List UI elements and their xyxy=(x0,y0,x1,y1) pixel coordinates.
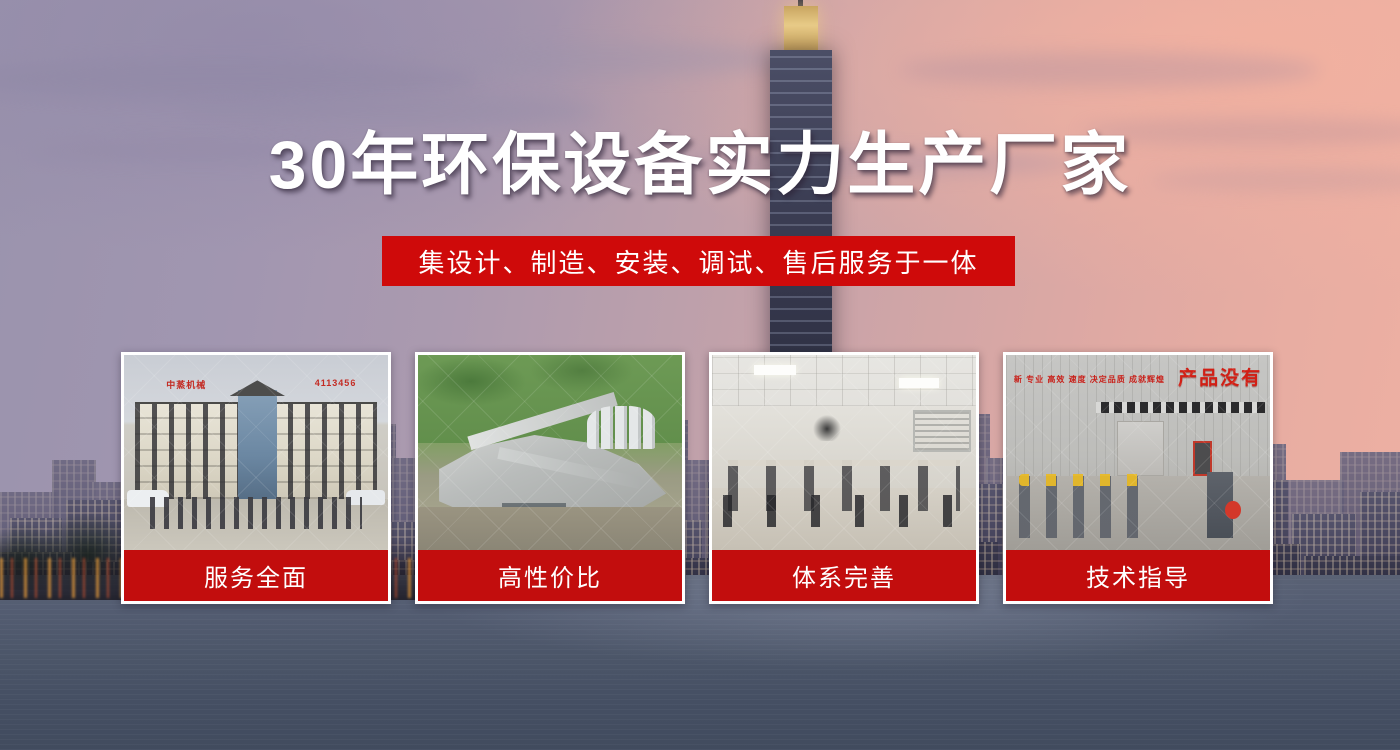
subtitle-text: 集设计、制造、安装、调试、售后服务于一体 xyxy=(418,243,978,280)
factory-sign-text: 产品没有 xyxy=(1178,363,1262,390)
workshop-training-photo: 产品没有 新 专业 高效 速度 决定品质 成就辉煌 xyxy=(1006,355,1270,550)
company-headquarters-photo: 中蒸机械 4113456 xyxy=(124,355,388,550)
promo-banner: 30年环保设备实力生产厂家 集设计、制造、安装、调试、售后服务于一体 中蒸机械 … xyxy=(0,0,1400,750)
card-caption-text: 高性价比 xyxy=(498,558,602,593)
card-caption-text: 体系完善 xyxy=(792,558,896,593)
building-phone-text: 4113456 xyxy=(315,378,357,388)
subtitle-bar: 集设计、制造、安装、调试、售后服务于一体 xyxy=(382,236,1015,286)
card-caption-text: 服务全面 xyxy=(204,558,308,593)
page-title: 30年环保设备实力生产厂家 xyxy=(0,131,1400,199)
feature-card[interactable]: 产品没有 新 专业 高效 速度 决定品质 成就辉煌 技术指导 xyxy=(1003,352,1273,604)
factory-slogan-text: 新 专业 高效 速度 决定品质 成就辉煌 xyxy=(1014,375,1165,386)
card-caption: 高性价比 xyxy=(418,550,682,601)
card-caption-text: 技术指导 xyxy=(1086,558,1190,593)
building-sign-text: 中蒸机械 xyxy=(166,378,206,391)
card-caption: 技术指导 xyxy=(1006,550,1270,601)
feature-card[interactable]: 体系完善 xyxy=(709,352,979,604)
feature-card-row: 中蒸机械 4113456 服务全面 xyxy=(121,352,1279,604)
aerial-plant-photo xyxy=(418,355,682,550)
card-caption: 体系完善 xyxy=(712,550,976,601)
feature-card[interactable]: 高性价比 xyxy=(415,352,685,604)
office-interior-photo xyxy=(712,355,976,550)
card-caption: 服务全面 xyxy=(124,550,388,601)
feature-card[interactable]: 中蒸机械 4113456 服务全面 xyxy=(121,352,391,604)
